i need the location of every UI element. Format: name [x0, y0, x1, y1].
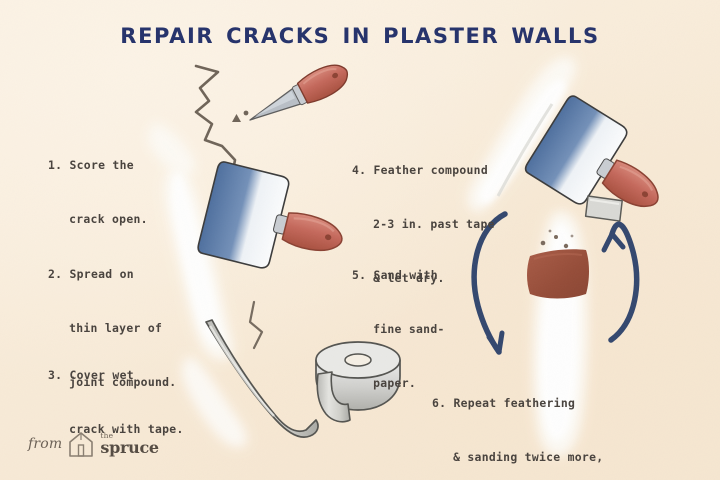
logo-from-text: from — [28, 436, 62, 452]
step-6-text: 6. Repeat feathering & sanding twice mor… — [432, 358, 611, 480]
step-5-line-2: fine sand- — [352, 320, 445, 338]
step-1-line-1: 1. Score the — [48, 156, 148, 174]
step-5-line-1: 5. Sand with — [352, 266, 445, 284]
brand-logo[interactable]: from the spruce — [28, 430, 159, 458]
step-6-line-2: & sanding twice more, — [432, 448, 611, 466]
infographic-canvas: Repair Cracks in Plaster Walls 1. Score … — [0, 0, 720, 480]
page-title: Repair Cracks in Plaster Walls — [0, 16, 720, 51]
house-icon — [68, 430, 94, 458]
step-3-line-1: 3. Cover wet — [48, 366, 184, 384]
step-1-line-2: crack open. — [48, 210, 148, 228]
step-6-line-1: 6. Repeat feathering — [432, 394, 611, 412]
step-2-line-1: 2. Spread on — [48, 265, 176, 283]
logo-wordmark: the spruce — [100, 432, 158, 457]
logo-spruce-text: spruce — [100, 440, 158, 456]
step-4-line-1: 4. Feather compound — [352, 161, 495, 179]
step-5-text: 5. Sand with fine sand- paper. — [352, 230, 445, 428]
step-5-line-3: paper. — [352, 374, 445, 392]
